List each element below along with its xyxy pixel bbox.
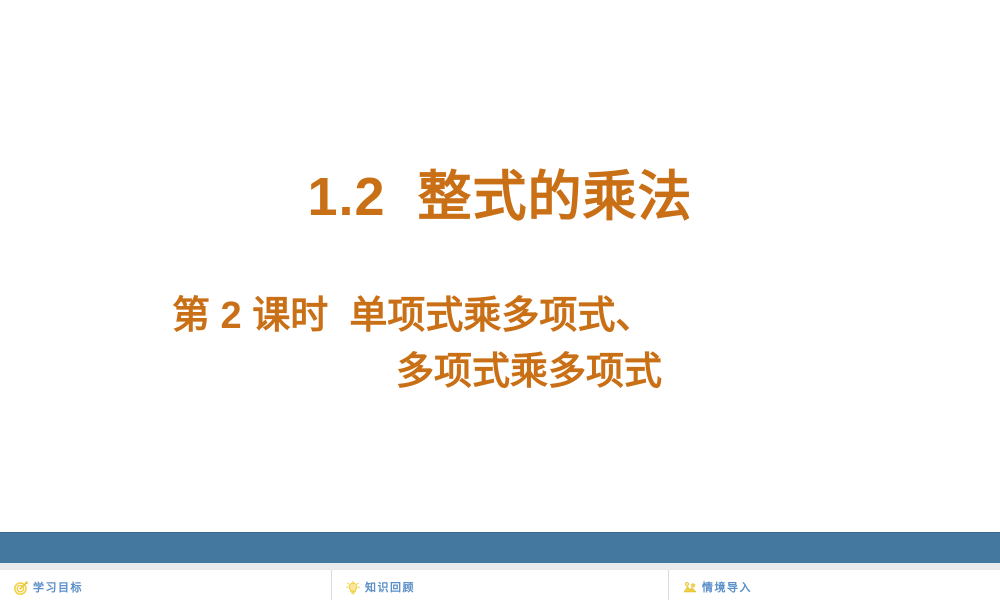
- tab-label: 学习目标: [33, 581, 83, 595]
- tab-label: 情境导入: [702, 581, 752, 595]
- subtitle-line-1: 第 2 课时 单项式乘多项式、: [0, 288, 1000, 344]
- title-area: 1.2 整式的乘法 第 2 课时 单项式乘多项式、 多项式乘多项式: [0, 0, 1000, 520]
- footer-tab-strip: 学习目标 知识回顾: [0, 570, 1000, 600]
- tab-learning-objectives[interactable]: 学习目标: [0, 570, 331, 600]
- slide-canvas: 1.2 整式的乘法 第 2 课时 单项式乘多项式、 多项式乘多项式 学习目标: [0, 0, 1000, 600]
- footer-gray-divider: [0, 563, 1000, 570]
- tab-label: 知识回顾: [365, 581, 415, 595]
- tab-situation-introduction[interactable]: 情境导入: [668, 570, 1000, 600]
- target-icon: [14, 581, 28, 595]
- scene-icon: [683, 581, 697, 595]
- subtitle-line-2: 多项式乘多项式: [0, 344, 1000, 400]
- footer-blue-bar: [0, 532, 1000, 563]
- tab-knowledge-review[interactable]: 知识回顾: [331, 570, 668, 600]
- lightbulb-icon: [346, 581, 360, 595]
- page-title: 1.2 整式的乘法: [0, 152, 1000, 231]
- subtitle-block: 第 2 课时 单项式乘多项式、 多项式乘多项式: [0, 288, 1000, 400]
